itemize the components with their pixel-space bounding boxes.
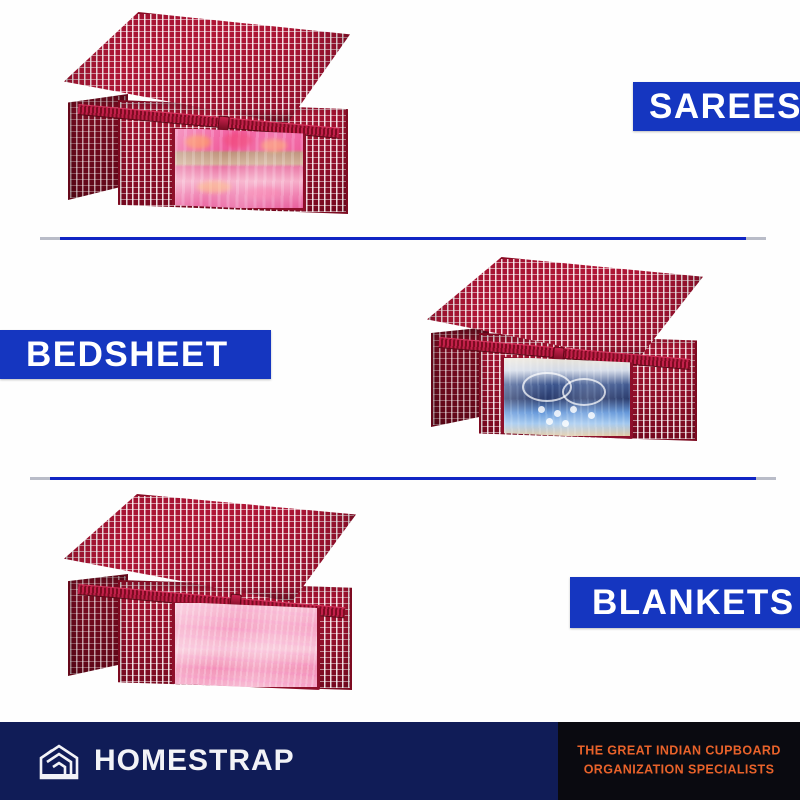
footer-tagline-line-1: THE GREAT INDIAN CUPBOARD <box>558 742 800 761</box>
brand-name: HOMESTRAP <box>94 744 295 778</box>
product-image-blankets-box <box>60 492 370 707</box>
category-badge-blankets-label: BLANKETS <box>592 583 795 623</box>
box-window-sarees <box>172 126 306 211</box>
category-badge-blankets: BLANKETS <box>570 577 800 628</box>
category-badge-sarees: SAREES <box>633 82 800 131</box>
window-contents-blanket <box>175 603 317 687</box>
footer: HOMESTRAP THE GREAT INDIAN CUPBOARD ORGA… <box>0 722 800 800</box>
footer-tagline: THE GREAT INDIAN CUPBOARD ORGANIZATION S… <box>558 742 800 781</box>
box-window-bedsheet <box>501 355 633 439</box>
house-box-logo-icon <box>38 741 80 781</box>
category-badge-bedsheet: BEDSHEET <box>0 330 271 379</box>
window-contents-sarees <box>175 129 303 208</box>
product-image-bedsheet-box <box>425 255 715 460</box>
section-divider-1 <box>60 237 746 240</box>
product-image-stage: SAREES BEDSHEET BLANKETS HOMESTRAP <box>0 0 800 800</box>
product-image-sarees-box <box>60 8 370 233</box>
section-divider-2 <box>50 477 756 480</box>
box-window-blankets <box>172 600 320 690</box>
category-badge-sarees-label: SAREES <box>649 87 800 127</box>
brand-lockup: HOMESTRAP <box>38 741 295 781</box>
footer-tagline-line-2: ORGANIZATION SPECIALISTS <box>558 761 800 780</box>
window-contents-bedsheet <box>504 358 630 436</box>
category-badge-bedsheet-label: BEDSHEET <box>26 335 229 375</box>
